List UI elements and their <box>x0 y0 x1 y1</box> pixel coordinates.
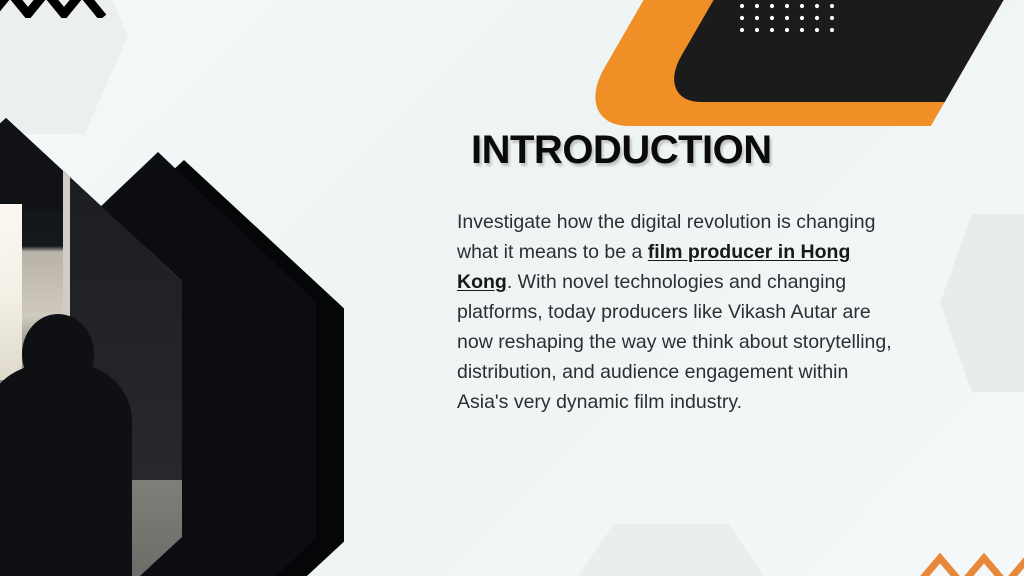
zigzag-top-left-icon <box>0 0 112 18</box>
photo-softbox-large <box>0 204 22 380</box>
orange-corner-band <box>571 0 1024 126</box>
slide-introduction: INTRODUCTION Investigate how the digital… <box>0 0 1024 576</box>
page-title: INTRODUCTION <box>471 128 893 173</box>
zigzag-bottom-right-icon <box>914 544 1024 576</box>
photo-crew-silhouette-right <box>0 364 132 576</box>
text-column: INTRODUCTION Investigate how the digital… <box>457 128 893 417</box>
corner-decoration-top-right <box>694 0 1024 132</box>
body-paragraph: Investigate how the digital revolution i… <box>457 207 893 417</box>
dark-corner-band <box>655 0 1024 102</box>
hexagon-right-edge <box>940 214 1024 392</box>
body-text-after: . With novel technologies and changing p… <box>457 271 892 413</box>
hexagon-bottom-center <box>556 524 786 576</box>
white-dot-grid-icon <box>738 2 848 32</box>
left-artwork-cluster <box>0 118 404 576</box>
hexagon-top-left <box>0 0 128 134</box>
